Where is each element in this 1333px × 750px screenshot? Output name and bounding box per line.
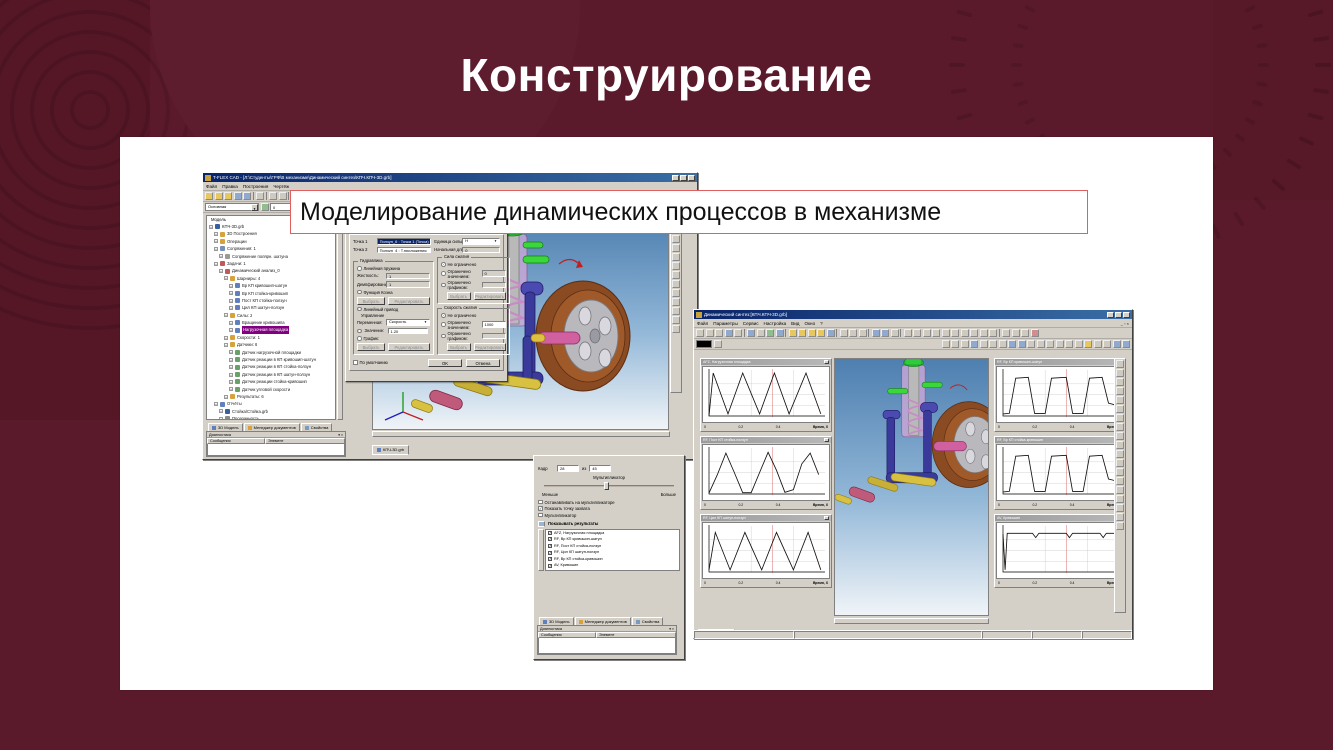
result-list-item[interactable]: ✓AV, Кривошип [546, 562, 679, 569]
chart-view-icon[interactable] [747, 329, 755, 337]
snap5-icon[interactable] [961, 329, 969, 337]
results-scrollbar[interactable] [538, 529, 544, 571]
row-icon[interactable] [849, 329, 857, 337]
tree-item[interactable]: +Стойка\Стойка.grb [207, 408, 335, 415]
layer-visibility-icon[interactable] [261, 203, 269, 211]
viewport-scrollbar-horizontal[interactable] [372, 431, 670, 437]
checkbox-icon[interactable]: ✓ [548, 531, 552, 535]
tree-item[interactable]: +Датчик реакции в КП кривошип-шатун [207, 356, 335, 363]
force-limited-value-label: Ограничено значением: [448, 269, 480, 279]
open-file-icon[interactable] [215, 192, 223, 200]
radio-graph[interactable]: График: [357, 336, 430, 341]
chevron-down-icon[interactable]: ▼ [494, 238, 497, 245]
animation-player-window[interactable]: Кадр 28 из 45 Мультипликатор Меньше Боль… [533, 455, 685, 660]
tree-item[interactable]: +Прозрачность [207, 415, 335, 420]
table-icon[interactable] [859, 329, 867, 337]
tree-expand-icon[interactable]: + [229, 350, 233, 354]
ok-button[interactable]: OK [428, 359, 462, 367]
save-icon[interactable] [243, 192, 251, 200]
results-menu-help[interactable]: ? [820, 319, 823, 328]
results-menu-service[interactable]: Сервис [743, 319, 759, 328]
radio-linear-spring[interactable]: Линейная пружина [357, 266, 430, 271]
print2-icon[interactable] [1021, 329, 1029, 337]
menu-item-constructions[interactable]: Построения [243, 182, 269, 191]
pause-icon[interactable] [798, 329, 806, 337]
style3-icon[interactable] [961, 340, 969, 348]
chart-window[interactable]: AFZ, Нагрузочная площадкаAFZ, Нагрузочна… [700, 358, 832, 432]
rotate-icon[interactable] [672, 280, 680, 288]
tree-item[interactable]: +Нагрузочная площадка [207, 326, 335, 333]
dynamic-synthesis-window[interactable]: Динамический синтез:[КПЧ.КПЧ-3D.grb] Фай… [693, 309, 1133, 639]
checkbox-icon[interactable]: ✓ [548, 557, 552, 561]
redo-icon[interactable] [279, 192, 287, 200]
force-unlimited[interactable]: Не ограничено [441, 262, 506, 267]
result-list-item[interactable]: ✓RF, Цил КП шатун-ползун [546, 549, 679, 556]
material-icon[interactable] [1116, 486, 1124, 494]
marker-icon[interactable] [980, 340, 988, 348]
image-icon[interactable] [1103, 340, 1111, 348]
value-field[interactable]: 1.20 [388, 328, 428, 335]
tree-item[interactable]: +Датчик реакции стойка-кривошип [207, 378, 335, 385]
frame-total-field[interactable]: 45 [589, 465, 611, 472]
new-file-icon[interactable] [205, 192, 213, 200]
tree-item[interactable]: +Скорости: 1 [207, 334, 335, 341]
circle-icon[interactable] [1075, 340, 1083, 348]
player-diagnostics-list[interactable] [538, 638, 676, 654]
tree-expand-icon[interactable]: + [224, 336, 228, 340]
measure-icon[interactable] [672, 325, 680, 333]
content-card: T-FLEX CAD - [Л:\Студенты\ГРФ\В механизм… [120, 137, 1213, 690]
chart-window[interactable]: RF, Цил КП шатун-ползунRF, Цил КП шатун-… [700, 514, 832, 588]
snap3-icon[interactable] [942, 329, 950, 337]
axis-icon[interactable] [757, 329, 765, 337]
speed-edit-button[interactable]: Редактировать [474, 343, 506, 351]
diagnostics-close-icon[interactable]: ▾ × [669, 627, 674, 631]
tree-item-label: Датчик реакции в КП кривошип-шатун [242, 356, 316, 363]
chart-window[interactable]: RF, Вр КП кривошип-шатунRF, Вр КП кривош… [994, 358, 1126, 432]
mdi-window-controls[interactable]: _ ▫ × [1121, 319, 1129, 328]
tree-item[interactable]: +Датчик угловой скорости [207, 386, 335, 393]
results-menu-window[interactable]: Окно [804, 319, 815, 328]
tree-expand-icon[interactable]: + [214, 402, 218, 406]
chart-canvas[interactable] [702, 444, 830, 501]
load-parameters-dialog[interactable]: Общие Параметры нагружения Точка 1 Ползу… [345, 222, 508, 382]
result-list-item[interactable]: ✓RF, Вр КП кривошип-шатун [546, 536, 679, 543]
play2-icon[interactable] [1116, 468, 1124, 476]
tree-scrollbar-vertical[interactable] [337, 215, 343, 420]
column-icon[interactable] [840, 329, 848, 337]
fill-icon[interactable] [970, 340, 978, 348]
style2-icon[interactable] [951, 340, 959, 348]
results-right-toolbar[interactable] [1114, 358, 1126, 613]
tree-expand-icon[interactable]: + [229, 284, 233, 288]
slider-thumb[interactable] [604, 482, 609, 490]
zoom-fit-icon[interactable] [672, 235, 680, 243]
variable-combo[interactable]: Скорость▼ [386, 319, 430, 326]
dim-icon[interactable] [1008, 340, 1016, 348]
player-diagnostics-panel[interactable]: Диагностика ▾ × Сообщения Элемент [537, 625, 677, 655]
results-menubar[interactable]: Файл Параметры Сервис Настройка Вид Окно… [694, 319, 1132, 328]
radio-linear-drive[interactable]: Линейный привод [357, 307, 430, 312]
tree-expand-icon[interactable]: + [214, 247, 218, 251]
speed-slider[interactable] [544, 482, 674, 490]
maximize-button[interactable] [1115, 312, 1122, 318]
initial-length-field[interactable]: 0 [462, 247, 500, 254]
snap6-icon[interactable] [970, 329, 978, 337]
diagnostics-list[interactable] [207, 444, 345, 456]
results-titlebar[interactable]: Динамический синтез:[КПЧ.КПЧ-3D.grb] [694, 310, 1132, 319]
chevron-down-icon[interactable]: ▼ [251, 204, 258, 211]
result-list-item[interactable]: ✓AFZ, Нагрузочная площадка [546, 530, 679, 537]
speed-select-button[interactable]: Выбрать [447, 343, 471, 351]
speed-label: Мультипликатор [538, 475, 680, 480]
tree-item[interactable]: +Динамический анализ_0 [207, 267, 335, 274]
charts-right-column[interactable]: RF, Вр КП кривошип-шатунRF, Вр КП кривош… [994, 358, 1126, 586]
tree-item[interactable]: +Силы: 2 [207, 312, 335, 319]
tree-item-label: Датчик реакции в КП стойка-ползун [242, 363, 311, 370]
tree-expand-icon[interactable]: + [219, 409, 223, 413]
tree-expand-icon[interactable]: + [229, 291, 233, 295]
open-recent-icon[interactable] [224, 192, 232, 200]
tree-node-icon [235, 350, 240, 355]
paste2-icon[interactable] [1116, 504, 1124, 512]
tree-expand-icon[interactable]: + [229, 328, 233, 332]
minimize-button[interactable] [1107, 312, 1114, 318]
import-icon[interactable] [913, 329, 921, 337]
tree-item[interactable]: +Сопряжение полярн. шатуна [207, 253, 335, 260]
multiplier-checkbox[interactable]: Мультипликатор [538, 513, 680, 518]
point2-field[interactable]: Ползун_4 : Т.приложения [377, 247, 432, 254]
speed-limited-graph-label: Ограничено графиком: [448, 331, 480, 341]
tree-expand-icon[interactable]: + [229, 358, 233, 362]
checkbox-icon[interactable]: ✓ [548, 551, 552, 555]
cancel-button[interactable]: Отмена [466, 359, 500, 367]
style1-icon[interactable] [942, 340, 950, 348]
diagnostics-panel[interactable]: Диагностика ▾ × Сообщения Элемент [206, 431, 346, 457]
chart-canvas[interactable] [702, 366, 830, 423]
label-icon[interactable] [1018, 340, 1026, 348]
stiffness-field[interactable]: 1 [386, 273, 430, 280]
tree-item[interactable]: +Датчик нагрузочной площадки [207, 349, 335, 356]
tree-item[interactable]: +Сопряжения: 1 [207, 245, 335, 252]
edit-function-button[interactable]: Редактировать [388, 297, 430, 305]
results-3d-viewport[interactable] [834, 358, 989, 616]
tree-item-label: Пост КП стойка-ползун [242, 297, 287, 304]
show-grab-point-checkbox[interactable]: ✓Показать точку захвата [538, 506, 680, 511]
charts-left-column[interactable]: AFZ, Нагрузочная площадкаAFZ, Нагрузочна… [700, 358, 832, 586]
diagnostics-collapse-icon[interactable]: ▾ × [338, 433, 343, 437]
frame-row[interactable]: Кадр 28 из 45 [538, 465, 680, 472]
menu-item-edit[interactable]: Правка [222, 182, 238, 191]
help-icon[interactable] [1031, 329, 1039, 337]
print-preview-icon[interactable] [1002, 329, 1010, 337]
zoom-out-icon[interactable] [672, 253, 680, 261]
tree-item[interactable]: +Отчёты [207, 400, 335, 407]
spline-icon[interactable] [1056, 340, 1064, 348]
menu-item-file[interactable]: Файл [206, 182, 217, 191]
zoom-all-icon[interactable] [1116, 378, 1124, 386]
show-grab-point-label: Показать точку захвата [545, 506, 590, 511]
tree-expand-icon[interactable]: + [224, 343, 228, 347]
section-icon[interactable] [672, 316, 680, 324]
model-tree-items[interactable]: +КПЧ-3D.grb+3D Построения+Операции+Сопря… [207, 223, 335, 420]
results-menu-view[interactable]: Вид [791, 319, 799, 328]
close-button[interactable] [1123, 312, 1130, 318]
tree-item[interactable]: +Операции [207, 238, 335, 245]
rect-tool-icon[interactable] [715, 329, 723, 337]
dialog-point2-row[interactable]: Точка 2 Ползун_4 : Т.приложения Начальна… [353, 247, 500, 254]
app-icon [205, 175, 211, 181]
color-swatch[interactable] [696, 340, 712, 348]
light-icon[interactable] [1116, 477, 1124, 485]
results-header-row: Показывать результаты [538, 521, 680, 527]
edit-graph-button[interactable]: Редактировать [388, 343, 430, 351]
force-limited-graph[interactable]: Ограничено графиком: [441, 280, 506, 290]
minimize-button[interactable] [672, 175, 679, 181]
chart-close-button[interactable] [824, 360, 829, 364]
force-edit-button[interactable]: Редактировать [474, 292, 506, 300]
menu-item-drawing[interactable]: Чертёж [273, 182, 289, 191]
chart-x-axis-label: Время, X [813, 503, 828, 507]
chevron-down-icon[interactable]: ▼ [424, 319, 427, 326]
tree-expand-icon[interactable]: + [219, 417, 223, 420]
chart-canvas[interactable] [996, 522, 1124, 579]
point1-field[interactable]: Ползун_6 : Точка 1 (Точка) [377, 238, 432, 245]
pointer-icon[interactable] [1116, 360, 1124, 368]
snap1-icon[interactable] [923, 329, 931, 337]
check-icon[interactable] [1116, 369, 1124, 377]
properties-icon [305, 426, 309, 430]
results-scrollbar-horizontal[interactable] [834, 618, 989, 624]
result-list-item[interactable]: ✓RF, Пост КП стойка-ползун [546, 543, 679, 550]
results-listbox[interactable]: ✓AFZ, Нагрузочная площадка✓RF, Вр КП кри… [545, 529, 680, 571]
force-limited-value-field[interactable]: 0 [482, 270, 506, 277]
results-menu-settings[interactable]: Настройка [764, 319, 787, 328]
tree-item[interactable]: +Результаты: 6 [207, 393, 335, 400]
legend-icon[interactable] [766, 329, 774, 337]
arc-icon[interactable] [1065, 340, 1073, 348]
tree-expand-icon[interactable]: + [229, 387, 233, 391]
speed-limited-value[interactable]: Ограничено значением:1000 [441, 320, 506, 330]
tree-item[interactable]: +Шарниры: 4 [207, 275, 335, 282]
snap8-icon[interactable] [989, 329, 997, 337]
tree-item[interactable]: +Задачи: 1 [207, 260, 335, 267]
tree-expand-icon[interactable]: + [214, 232, 218, 236]
tree-expand-icon[interactable]: + [229, 306, 233, 310]
checkbox-icon[interactable]: ✓ [548, 537, 552, 541]
chart-plot-area [703, 523, 829, 578]
save-as-icon[interactable] [234, 192, 242, 200]
tree-expand-icon[interactable]: + [224, 313, 228, 317]
cube-icon [212, 426, 216, 430]
scale-icon[interactable] [1116, 396, 1124, 404]
settings2-icon[interactable] [1116, 513, 1124, 521]
hatch-icon[interactable] [1094, 340, 1102, 348]
zoom-previous-icon[interactable] [672, 262, 680, 270]
chart-close-button[interactable] [824, 516, 829, 520]
tree-item[interactable]: +Датчик реакции в КП шатун-ползун [207, 371, 335, 378]
export2-icon[interactable] [1116, 522, 1124, 530]
select-graph-button[interactable]: Выбрать [357, 343, 385, 351]
tree-expand-icon[interactable]: + [214, 239, 218, 243]
viewport-toolbar[interactable] [670, 215, 682, 393]
frame-current-field[interactable]: 28 [557, 465, 579, 472]
tree-item[interactable]: +Пост КП стойка-ползун [207, 297, 335, 304]
print-icon[interactable] [256, 192, 264, 200]
info-icon[interactable] [1122, 340, 1130, 348]
undo-icon[interactable] [269, 192, 277, 200]
chart-window[interactable]: RF, Вр КП стойка-кривошипRF, Вр КП стойк… [994, 436, 1126, 510]
force-select-button[interactable]: Выбрать [447, 292, 471, 300]
snap2-icon[interactable] [932, 329, 940, 337]
move-icon[interactable] [1116, 387, 1124, 395]
result-list-item[interactable]: ✓RF, Вр КП стойка-кривошип [546, 556, 679, 563]
damping-field[interactable]: 1 [386, 281, 430, 288]
snap7-icon[interactable] [980, 329, 988, 337]
zoom-prev2-icon[interactable] [1116, 432, 1124, 440]
zoom-out2-icon[interactable] [1116, 423, 1124, 431]
results-menu-file[interactable]: Файл [697, 319, 708, 328]
tree-expand-icon[interactable]: + [229, 321, 233, 325]
tree-expand-icon[interactable]: + [224, 276, 228, 280]
link-icon[interactable] [1113, 340, 1121, 348]
player-diagnostics-columns: Сообщения Элемент [538, 632, 676, 638]
tile-v-icon[interactable] [881, 329, 889, 337]
text-tool-icon[interactable] [706, 329, 714, 337]
tree-item[interactable]: +Вр КП кривошип-шатун [207, 282, 335, 289]
chart-series-line [709, 452, 819, 493]
doc-tab-kpch[interactable]: КПЧ-3D.grb [372, 445, 409, 455]
tree-expand-icon[interactable]: + [229, 380, 233, 384]
series-icon[interactable] [776, 329, 784, 337]
results-toolbar-row1[interactable] [694, 328, 1132, 339]
variable-row[interactable]: Переменная: Скорость▼ [357, 319, 430, 326]
tree-expand-icon[interactable]: + [229, 299, 233, 303]
checkbox-icon[interactable]: ✓ [548, 544, 552, 548]
close-button[interactable] [688, 175, 695, 181]
tree-item[interactable]: +Цил КП шатун-ползун [207, 304, 335, 311]
arrow-icon[interactable] [999, 340, 1007, 348]
chart-close-button[interactable] [824, 438, 829, 442]
table2-icon[interactable] [1037, 340, 1045, 348]
rewind-icon[interactable] [817, 329, 825, 337]
play-icon[interactable] [789, 329, 797, 337]
stop-on-multiplier-checkbox[interactable]: Останавливать на мультипликаторе [538, 500, 680, 505]
radio-function[interactable]: Функция Коэна [357, 290, 430, 295]
copy2-icon[interactable] [1116, 495, 1124, 503]
tree-expand-icon[interactable]: + [229, 373, 233, 377]
chart-window[interactable]: RF, Пост КП стойка-ползунRF, Пост КП сто… [700, 436, 832, 510]
speed-unlimited[interactable]: Не ограничено [441, 313, 506, 318]
page-setup-icon[interactable] [1012, 329, 1020, 337]
stiffness-row[interactable]: Жесткость: 1 [357, 273, 430, 280]
tree-item[interactable]: +Вр КП стойка-кривошип [207, 290, 335, 297]
chart-canvas[interactable] [996, 444, 1124, 501]
force-limited-graph-field[interactable] [482, 282, 506, 289]
poly-icon[interactable] [1046, 340, 1054, 348]
tree-expand-icon[interactable]: + [219, 254, 223, 258]
tree-node-icon [220, 402, 225, 407]
tree-item-label: Прозрачность [232, 415, 259, 420]
snap4-icon[interactable] [951, 329, 959, 337]
radio-linear-drive-label: Линейный привод [364, 307, 399, 312]
render-mode-icon[interactable] [672, 289, 680, 297]
speed-limited-graph[interactable]: Ограничено графиком: [441, 331, 506, 341]
tree-expand-icon[interactable]: + [229, 365, 233, 369]
line-tool-icon[interactable] [696, 329, 704, 337]
value-row[interactable]: Значение: 1.20 [357, 328, 430, 335]
snapshot-icon[interactable] [1116, 450, 1124, 458]
dialog-point1-row[interactable]: Точка 1 Ползун_6 : Точка 1 (Точка) Едини… [353, 238, 500, 245]
diagnostics-columns: Сообщения Элемент [207, 438, 345, 444]
chart-x-tick: 0.4 [776, 503, 781, 507]
chart-canvas[interactable] [702, 522, 830, 579]
grid2-icon[interactable] [1027, 340, 1035, 348]
chart-window[interactable]: AV, КривошипAV, Кривошип00.20.4Время, X [994, 514, 1126, 588]
color-dropdown-icon[interactable] [714, 340, 722, 348]
node-tool-icon[interactable] [725, 329, 733, 337]
maximize-button[interactable] [680, 175, 687, 181]
radio-icon[interactable] [357, 329, 362, 334]
export-icon[interactable] [904, 329, 912, 337]
stop-icon[interactable] [808, 329, 816, 337]
tree-item[interactable]: +Вращение кривошипа [207, 319, 335, 326]
model-tree-panel[interactable]: Модель +КПЧ-3D.grb+3D Построения+Операци… [206, 215, 336, 420]
chart-x-axis: 00.20.4Время, X [995, 424, 1125, 430]
checkbox-icon[interactable]: ✓ [548, 564, 552, 568]
grid-tool-icon[interactable] [734, 329, 742, 337]
results-toolbar-row2[interactable] [694, 339, 1132, 350]
shape-icon[interactable] [989, 340, 997, 348]
rotate2-icon[interactable] [1116, 441, 1124, 449]
cascade-icon[interactable] [891, 329, 899, 337]
default-checkbox[interactable]: По умолчанию [353, 360, 388, 365]
cad-document-tabs[interactable]: КПЧ-3D.grb [372, 439, 462, 457]
tree-item[interactable]: +Датчики: 6 [207, 341, 335, 348]
force-unit-combo[interactable]: Н▼ [462, 238, 500, 245]
highlight-icon[interactable] [1084, 340, 1092, 348]
radio-linear-spring-label: Линейная пружина [364, 266, 401, 271]
speed-limited-graph-field[interactable] [482, 333, 506, 340]
speed-limited-value-field[interactable]: 1000 [482, 321, 506, 328]
tree-expand-icon[interactable]: + [224, 395, 228, 399]
layer-combo[interactable]: Основная ▼ [205, 203, 259, 211]
zoom-in2-icon[interactable] [1116, 414, 1124, 422]
shaded-view-icon[interactable] [672, 298, 680, 306]
zoom-in-icon[interactable] [672, 244, 680, 252]
chart-canvas[interactable] [996, 366, 1124, 423]
damping-row[interactable]: Демпфирование: 1 [357, 281, 430, 288]
pan-icon[interactable] [672, 271, 680, 279]
tree-expand-icon[interactable]: + [214, 262, 218, 266]
tree-expand-icon[interactable]: + [219, 269, 223, 273]
compression-force-group: Сила сжатия Не ограничено Ограничено зна… [437, 257, 510, 304]
select-function-button[interactable]: Выбрать [357, 297, 385, 305]
force-limited-value[interactable]: Ограничено значением:0 [441, 269, 506, 279]
zoom-window2-icon[interactable] [1116, 405, 1124, 413]
wireframe-icon[interactable] [672, 307, 680, 315]
results-window-controls[interactable] [1107, 312, 1130, 318]
tree-node-icon [225, 409, 230, 414]
window-controls[interactable] [672, 175, 695, 181]
tile-h-icon[interactable] [872, 329, 880, 337]
radio-icon [357, 290, 362, 295]
tree-expand-icon[interactable]: + [209, 225, 213, 229]
step-icon[interactable] [827, 329, 835, 337]
tree-item[interactable]: +Датчик реакции в КП стойка-ползун [207, 363, 335, 370]
record-icon[interactable] [1116, 459, 1124, 467]
results-menu-parameters[interactable]: Параметры [713, 319, 738, 328]
